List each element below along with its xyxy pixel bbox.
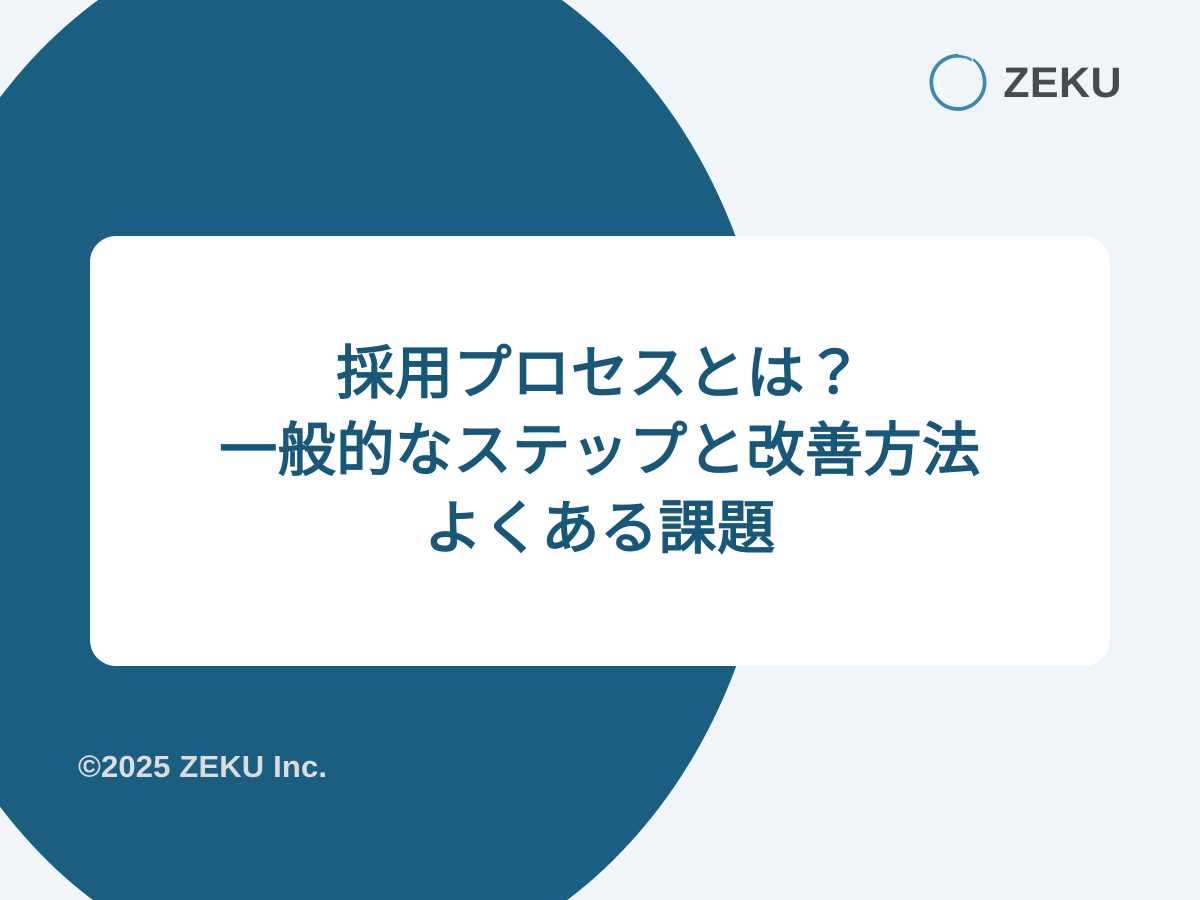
zeku-enso-circle-icon <box>927 52 989 114</box>
page-title: 採用プロセスとは？ 一般的なステップと改善方法 よくある課題 <box>130 335 1070 566</box>
title-line-2: 一般的なステップと改善方法 <box>130 412 1070 489</box>
title-card: 採用プロセスとは？ 一般的なステップと改善方法 よくある課題 <box>90 236 1110 666</box>
title-slide: ZEKU 採用プロセスとは？ 一般的なステップと改善方法 よくある課題 ©202… <box>0 0 1200 900</box>
copyright-notice: ©2025 ZEKU Inc. <box>78 748 327 785</box>
brand-lockup: ZEKU <box>927 52 1122 114</box>
title-line-1: 採用プロセスとは？ <box>130 335 1070 412</box>
title-line-3: よくある課題 <box>130 490 1070 567</box>
brand-wordmark: ZEKU <box>1003 62 1122 105</box>
